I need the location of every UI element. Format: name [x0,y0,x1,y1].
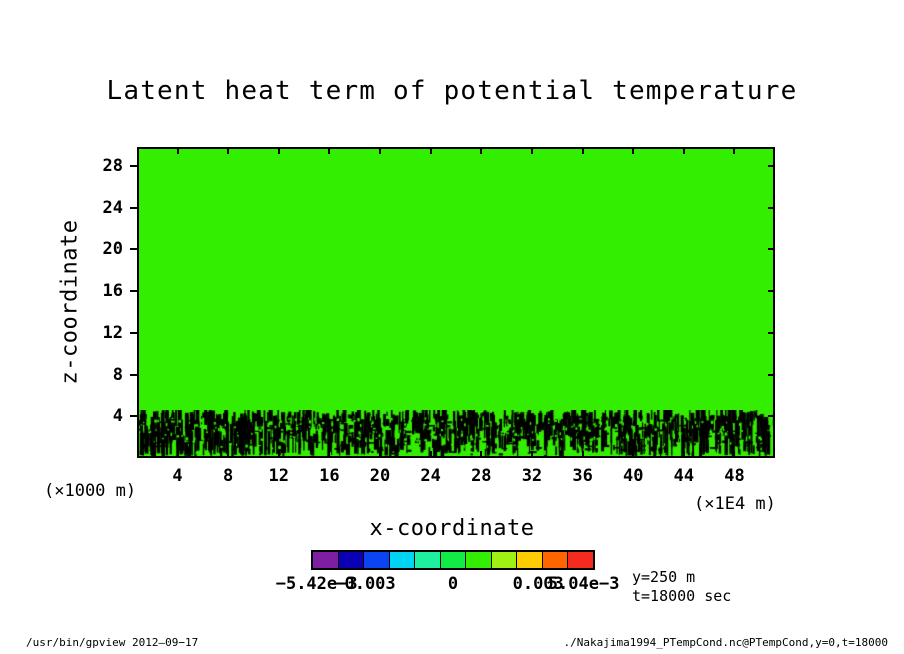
plot-area [137,147,775,458]
x-axis-tick-label: 16 [319,466,339,486]
x-axis-tick [480,451,482,458]
x-axis-tick-label: 44 [674,466,694,486]
colorbar-swatch-10 [568,552,593,568]
colorbar-swatch-1 [339,552,365,568]
colorbar-swatch-5 [441,552,467,568]
x-axis-tick [582,451,584,458]
x-axis-tick-top [278,147,280,154]
x-axis-unit-label: (×1E4 m) [694,494,776,514]
colorbar-tick-label: 5.04e−3 [548,574,620,594]
y-axis-tick [130,332,137,334]
x-axis-tick-top [531,147,533,154]
y-axis-tick [130,165,137,167]
y-axis-tick-label: 4 [113,406,123,426]
x-axis-tick [531,451,533,458]
colorbar-swatch-8 [517,552,543,568]
y-axis-unit-label: (×1000 m) [44,481,136,501]
colorbar [311,550,595,570]
colorbar-tick-label: −0.003 [334,574,395,594]
y-axis-tick-inner [768,290,775,292]
colorbar-swatch-2 [364,552,390,568]
x-axis-tick-top [227,147,229,154]
x-axis-tick-top [632,147,634,154]
x-axis-tick [632,451,634,458]
x-axis-tick-top [430,147,432,154]
x-axis-tick [379,451,381,458]
y-axis-tick-label: 24 [103,198,123,218]
x-axis-tick-label: 40 [623,466,643,486]
page-title: Latent heat term of potential temperatur… [0,76,904,106]
x-axis-tick [328,451,330,458]
colorbar-swatch-6 [466,552,492,568]
x-axis-tick [430,451,432,458]
y-axis-tick-label: 20 [103,239,123,259]
contour-noise-canvas [139,410,773,456]
y-axis-tick-inner [768,374,775,376]
colorbar-swatch-0 [313,552,339,568]
annotation-time: t=18000 sec [632,587,731,606]
y-axis-tick-label: 8 [113,365,123,385]
x-axis-tick-label: 36 [572,466,592,486]
x-axis-tick [683,451,685,458]
y-axis-tick-inner [768,248,775,250]
x-axis-tick-top [480,147,482,154]
y-axis-tick [130,207,137,209]
x-axis-title: x-coordinate [0,516,904,541]
footer-source-file: ./Nakajima1994_PTempCond.nc@PTempCond,y=… [563,636,888,649]
y-axis-tick-inner [768,165,775,167]
y-axis-tick [130,248,137,250]
colorbar-swatch-4 [415,552,441,568]
x-axis-tick-top [733,147,735,154]
x-axis-tick [177,451,179,458]
colorbar-swatch-9 [543,552,569,568]
colorbar-swatch-7 [492,552,518,568]
y-axis-tick-label: 28 [103,156,123,176]
contour-noise-band [139,410,773,456]
x-axis-tick-label: 32 [522,466,542,486]
y-axis-tick-inner [768,332,775,334]
y-axis-tick-inner [768,207,775,209]
y-axis-tick [130,374,137,376]
x-axis-tick-label: 8 [223,466,233,486]
slice-annotations: y=250 m t=18000 sec [632,568,731,606]
x-axis-tick [278,451,280,458]
y-axis-title: z-coordinate [58,220,83,385]
x-axis-tick-label: 24 [420,466,440,486]
y-axis-tick-inner [768,415,775,417]
y-axis-tick [130,290,137,292]
x-axis-tick-label: 28 [471,466,491,486]
colorbar-swatch-3 [390,552,416,568]
x-axis-tick [733,451,735,458]
x-axis-tick-top [177,147,179,154]
x-axis-tick-top [328,147,330,154]
y-axis-tick-label: 16 [103,281,123,301]
y-axis-tick [130,415,137,417]
x-axis-tick-label: 20 [370,466,390,486]
colorbar-tick-label: 0 [448,574,458,594]
y-axis-tick-label: 12 [103,323,123,343]
x-axis-tick-top [379,147,381,154]
x-axis-tick [227,451,229,458]
annotation-y-level: y=250 m [632,568,731,587]
x-axis-tick-top [582,147,584,154]
plot-canvas: Latent heat term of potential temperatur… [0,0,904,654]
x-axis-tick-label: 4 [172,466,182,486]
x-axis-tick-label: 12 [269,466,289,486]
footer-command: /usr/bin/gpview 2012‒09−17 [26,636,198,649]
x-axis-tick-top [683,147,685,154]
x-axis-tick-label: 48 [724,466,744,486]
